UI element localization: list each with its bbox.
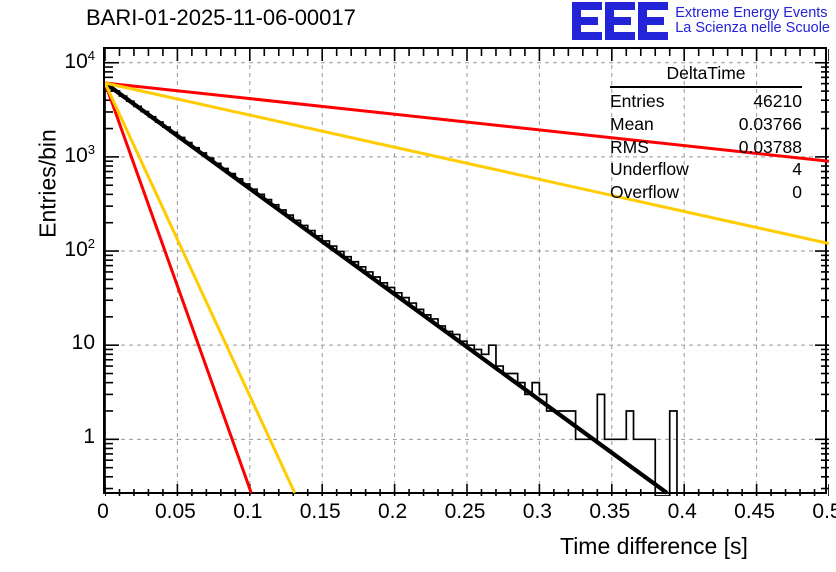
reference-line	[105, 83, 251, 493]
letter-e-icon-1	[572, 2, 602, 40]
stats-value: 0.03788	[739, 136, 802, 159]
letter-e-icon-2	[605, 2, 635, 40]
stats-key: Entries	[610, 90, 664, 113]
eee-logo-mark	[572, 2, 668, 40]
y-tick-label: 102	[19, 236, 95, 262]
x-tick-label: 0.3	[523, 500, 552, 524]
stats-value: 46210	[753, 90, 802, 113]
eee-logo-text: Extreme Energy Events La Scienza nelle S…	[675, 6, 830, 36]
eee-logo-line1: Extreme Energy Events	[675, 6, 830, 21]
stats-key: Overflow	[610, 181, 679, 204]
x-tick-label: 0.05	[155, 500, 196, 524]
y-tick-label: 10	[19, 331, 95, 355]
x-axis-title: Time difference [s]	[560, 533, 748, 560]
x-tick-label: 0.35	[589, 500, 630, 524]
stats-row: RMS0.03788	[610, 136, 802, 159]
stats-value: 0.03766	[739, 113, 802, 136]
y-tick-label: 1	[19, 425, 95, 449]
stats-key: RMS	[610, 136, 649, 159]
x-tick-label: 0	[97, 500, 109, 524]
stats-value: 4	[792, 158, 802, 181]
stats-key: Mean	[610, 113, 654, 136]
stats-row: Mean0.03766	[610, 113, 802, 136]
y-tick-label: 104	[19, 48, 95, 74]
stats-value: 0	[792, 181, 802, 204]
x-tick-label: 0.1	[233, 500, 262, 524]
x-tick-label: 0.4	[668, 500, 697, 524]
stats-box: DeltaTime Entries46210Mean0.03766RMS0.03…	[610, 63, 802, 204]
stats-title: DeltaTime	[610, 63, 802, 85]
x-tick-label: 0.15	[300, 500, 341, 524]
page-title: BARI-01-2025-11-06-00017	[86, 5, 356, 31]
x-tick-label: 0.45	[734, 500, 775, 524]
y-tick-label: 103	[19, 142, 95, 168]
stats-row: Entries46210	[610, 90, 802, 113]
plot-canvas: BARI-01-2025-11-06-00017	[0, 0, 836, 572]
x-tick-label: 0.2	[378, 500, 407, 524]
x-tick-label: 0.5	[812, 500, 836, 524]
stats-divider	[610, 86, 802, 88]
stats-rows: Entries46210Mean0.03766RMS0.03788Underfl…	[610, 90, 802, 204]
stats-row: Underflow4	[610, 158, 802, 181]
stats-row: Overflow0	[610, 181, 802, 204]
x-tick-label: 0.25	[445, 500, 486, 524]
eee-logo: Extreme Energy Events La Scienza nelle S…	[572, 2, 830, 40]
letter-e-icon-3	[638, 2, 668, 40]
eee-logo-line2: La Scienza nelle Scuole	[675, 21, 830, 36]
stats-key: Underflow	[610, 158, 689, 181]
reference-line	[105, 83, 295, 493]
